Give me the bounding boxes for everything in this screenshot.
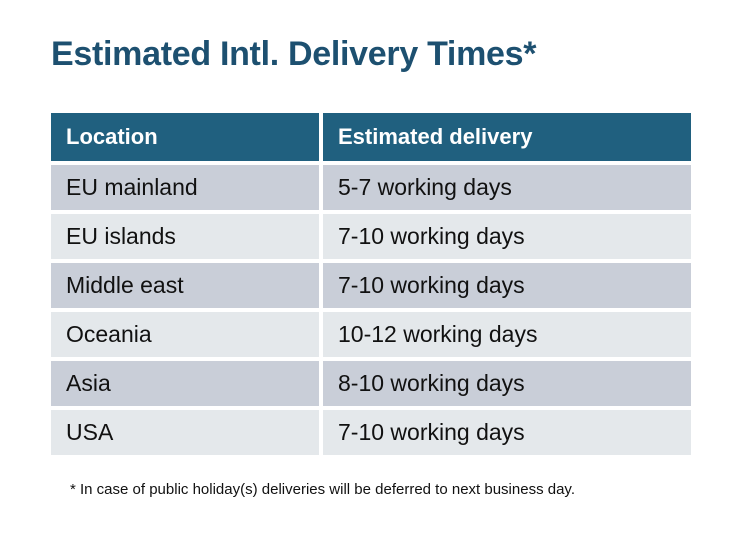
table-header-row: Location Estimated delivery xyxy=(51,113,691,161)
cell-location: USA xyxy=(51,410,319,455)
delivery-times-table: Location Estimated delivery EU mainland … xyxy=(51,113,691,455)
footnote-text: * In case of public holiday(s) deliverie… xyxy=(70,481,575,498)
cell-estimated-delivery: 5-7 working days xyxy=(323,165,691,210)
cell-estimated-delivery: 7-10 working days xyxy=(323,214,691,259)
table-row: Middle east 7-10 working days xyxy=(51,263,691,308)
table-row: Oceania 10-12 working days xyxy=(51,312,691,357)
cell-estimated-delivery: 10-12 working days xyxy=(323,312,691,357)
column-header-location: Location xyxy=(51,113,319,161)
table-row: EU islands 7-10 working days xyxy=(51,214,691,259)
cell-estimated-delivery: 7-10 working days xyxy=(323,410,691,455)
table-row: USA 7-10 working days xyxy=(51,410,691,455)
cell-location: Middle east xyxy=(51,263,319,308)
table-row: Asia 8-10 working days xyxy=(51,361,691,406)
column-header-estimated-delivery: Estimated delivery xyxy=(323,113,691,161)
cell-location: Oceania xyxy=(51,312,319,357)
cell-estimated-delivery: 8-10 working days xyxy=(323,361,691,406)
cell-location: EU islands xyxy=(51,214,319,259)
cell-location: Asia xyxy=(51,361,319,406)
cell-estimated-delivery: 7-10 working days xyxy=(323,263,691,308)
table-row: EU mainland 5-7 working days xyxy=(51,165,691,210)
page-title: Estimated Intl. Delivery Times* xyxy=(51,35,536,74)
cell-location: EU mainland xyxy=(51,165,319,210)
delivery-times-page: Estimated Intl. Delivery Times* Location… xyxy=(0,0,745,536)
